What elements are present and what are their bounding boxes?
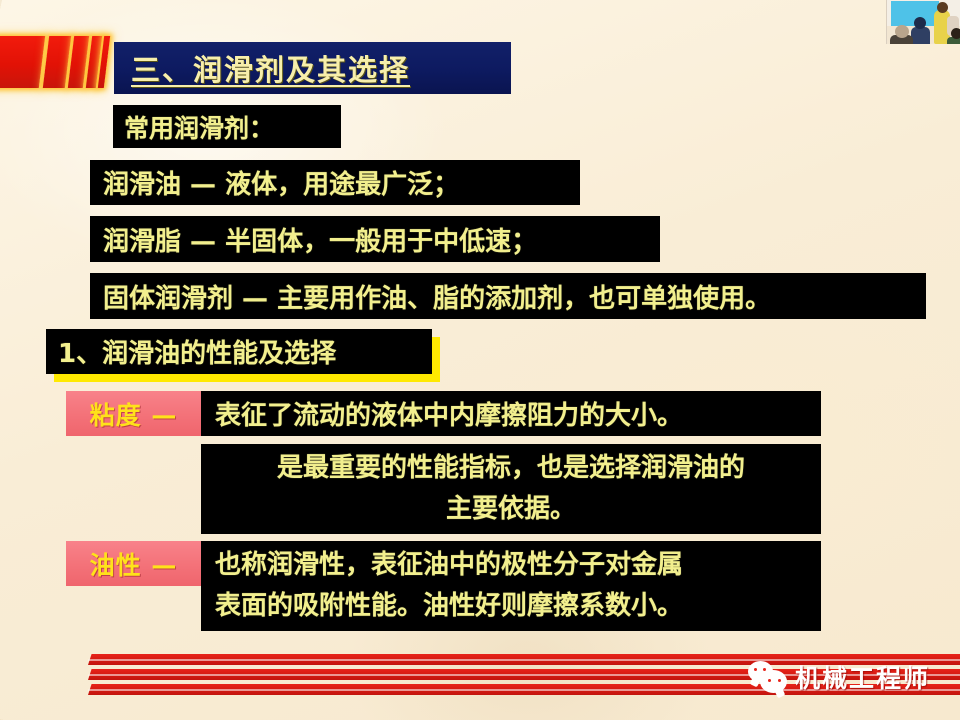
wechat-dot-3 — [768, 679, 771, 682]
brand-name: 机械工程师 — [795, 659, 930, 695]
section-heading: 1、润滑油的性能及选择 — [46, 329, 432, 374]
term-tag-oiliness: 油性 — — [66, 541, 201, 586]
wechat-dot-4 — [778, 679, 781, 682]
intro-label: 常用润滑剂： — [113, 105, 341, 148]
red-bar-1 — [0, 36, 45, 88]
lubricant-item-grease: 润滑脂 — 半固体，一般用于中低速； — [90, 216, 660, 262]
viscosity-note-line-2: 主要依据。 — [446, 489, 576, 530]
photo-student1-head — [914, 17, 926, 29]
term-body-oiliness-line-2: 表面的吸附性能。油性好则摩擦系数小。 — [215, 586, 683, 627]
classroom-photo — [886, 0, 960, 44]
photo-teacher-head — [937, 2, 948, 13]
photo-student3-head — [951, 28, 960, 39]
red-bar-2 — [43, 36, 71, 88]
wechat-dot-2 — [763, 668, 766, 671]
lubricant-item-oil: 润滑油 — 液体，用途最广泛； — [90, 160, 580, 205]
red-bars-decoration — [0, 33, 106, 91]
section-heading-group: 1、润滑油的性能及选择 — [46, 329, 432, 374]
brand-watermark: 机械工程师 — [748, 656, 930, 698]
page-title: 三、润滑剂及其选择 — [131, 47, 410, 89]
term-tag-viscosity: 粘度 — — [66, 391, 201, 436]
term-body-oiliness: 也称润滑性，表征油中的极性分子对金属 表面的吸附性能。油性好则摩擦系数小。 — [201, 541, 821, 631]
slide-title-bar: 三、润滑剂及其选择 — [114, 42, 511, 94]
photo-student1-body — [911, 27, 930, 44]
term-body-oiliness-line-1: 也称润滑性，表征油中的极性分子对金属 — [215, 545, 683, 586]
wechat-dot-1 — [754, 668, 757, 671]
photo-student2-head — [895, 25, 909, 38]
lubricant-item-solid: 固体润滑剂 — 主要用作油、脂的添加剂，也可单独使用。 — [90, 273, 926, 319]
wechat-icon — [748, 661, 788, 693]
viscosity-note: 是最重要的性能指标，也是选择润滑油的 主要依据。 — [201, 444, 821, 534]
slide-canvas: 三、润滑剂及其选择 常用润滑剂： 润滑油 — 液体，用途最广泛； 润滑脂 — 半… — [0, 0, 960, 720]
viscosity-note-line-1: 是最重要的性能指标，也是选择润滑油的 — [277, 448, 745, 489]
term-body-viscosity: 表征了流动的液体中内摩擦阻力的大小。 — [201, 391, 821, 436]
wechat-bubble-front — [760, 670, 787, 693]
